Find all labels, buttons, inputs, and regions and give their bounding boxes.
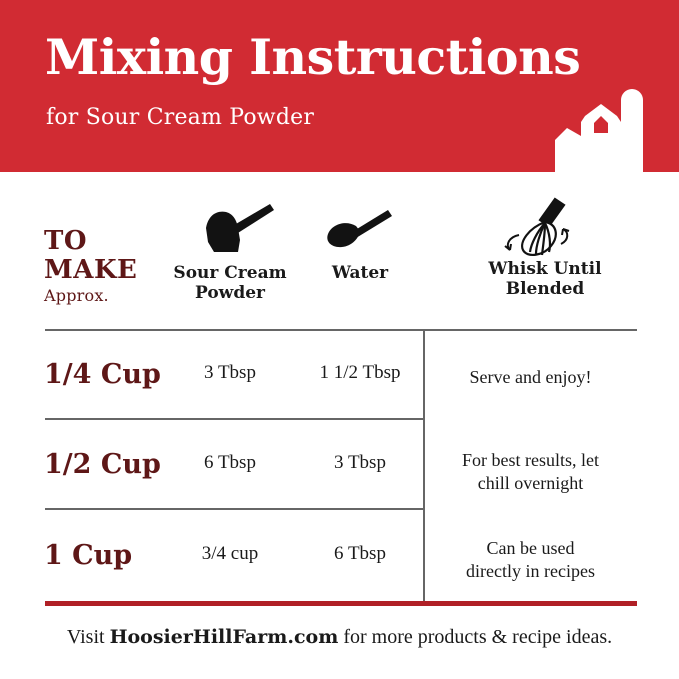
page-title: Mixing Instructions: [45, 32, 580, 83]
column-header-whisk-line2: Blended: [506, 279, 585, 299]
to-make-heading: TO MAKE Approx.: [44, 228, 174, 304]
table-cell-note-line1: Serve and enjoy!: [470, 367, 592, 387]
table-cell-note-line2: chill overnight: [478, 473, 583, 493]
footer-red-bar: [45, 601, 637, 606]
column-header-powder-line2: Powder: [195, 283, 265, 303]
column-header-water-label: Water: [332, 263, 388, 283]
table-row-rule-1: [45, 418, 424, 420]
table-cell-water: 6 Tbsp: [300, 543, 420, 565]
footer-brand-link[interactable]: HoosierHillFarm.com: [110, 626, 339, 648]
table-cell-powder: 3/4 cup: [160, 543, 300, 565]
column-header-powder: Sour Cream Powder: [160, 200, 300, 303]
table-cell-powder: 3 Tbsp: [160, 362, 300, 384]
barn-silo-icon: [525, 72, 665, 172]
table-cell-note: For best results, let chill overnight: [424, 449, 637, 494]
to-make-line1: TO: [44, 228, 174, 254]
table-top-rule: [45, 329, 637, 331]
table-cell-water: 1 1/2 Tbsp: [300, 362, 420, 384]
whisk-icon: [440, 196, 650, 254]
column-header-powder-line1: Sour Cream: [173, 263, 286, 283]
spoon-icon: [300, 200, 420, 258]
table-cell-note-line1: Can be used: [487, 538, 575, 558]
page-subtitle: for Sour Cream Powder: [46, 105, 314, 130]
table-cell-note-line2: directly in recipes: [466, 561, 595, 581]
column-header-water: Water: [300, 200, 420, 284]
table-cell-water: 3 Tbsp: [300, 452, 420, 474]
table-cell-note: Serve and enjoy!: [424, 366, 637, 389]
table-cell-note-line1: For best results, let: [462, 450, 599, 470]
column-header-whisk: Whisk Until Blended: [440, 196, 650, 299]
table-row-rule-2: [45, 508, 424, 510]
footer-prefix: Visit: [67, 626, 110, 648]
infographic-page: Mixing Instructions for Sour Cream Powde…: [0, 0, 679, 679]
to-make-line2: MAKE: [44, 257, 174, 283]
table-cell-note: Can be used directly in recipes: [424, 537, 637, 582]
footer-suffix: for more products & recipe ideas.: [338, 626, 612, 648]
column-header-whisk-line1: Whisk Until: [488, 259, 601, 279]
footer-text: Visit HoosierHillFarm.com for more produ…: [0, 626, 679, 649]
header-banner: Mixing Instructions for Sour Cream Powde…: [0, 0, 679, 172]
to-make-approx: Approx.: [44, 288, 174, 304]
measuring-scoop-icon: [160, 200, 300, 258]
table-cell-powder: 6 Tbsp: [160, 452, 300, 474]
